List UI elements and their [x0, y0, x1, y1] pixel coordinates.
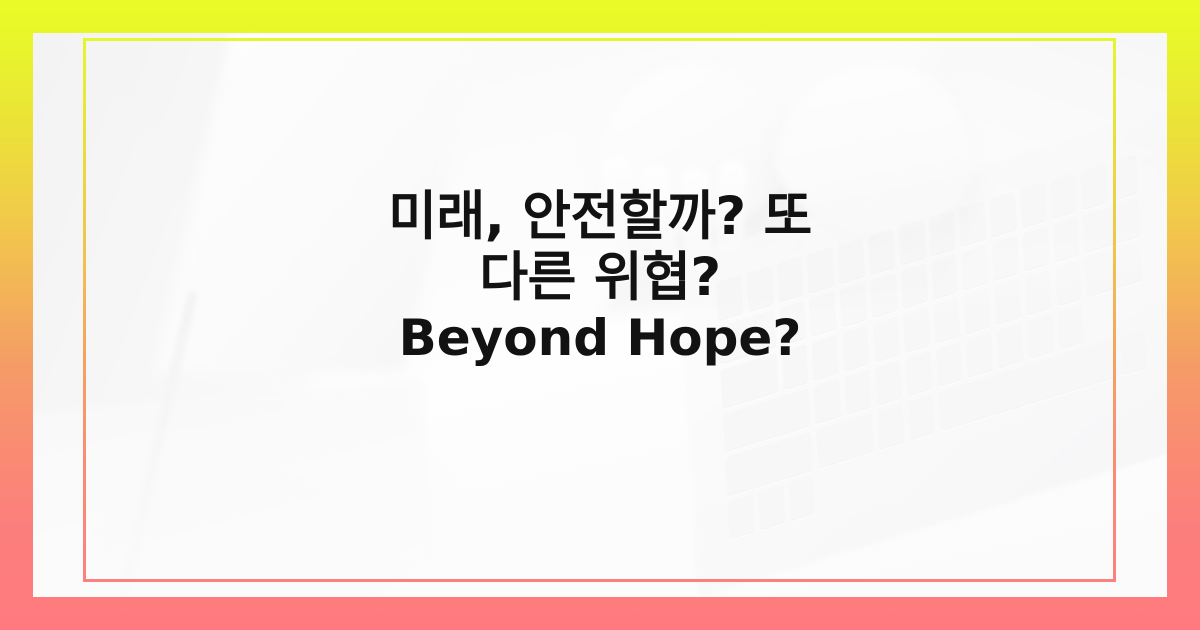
- photo-white-wash: [33, 33, 1167, 597]
- thumbnail-card: 미래, 안전할까? 또 다른 위협? Beyond Hope?: [0, 0, 1200, 630]
- background-photo: [33, 33, 1167, 597]
- content-panel: [33, 33, 1167, 597]
